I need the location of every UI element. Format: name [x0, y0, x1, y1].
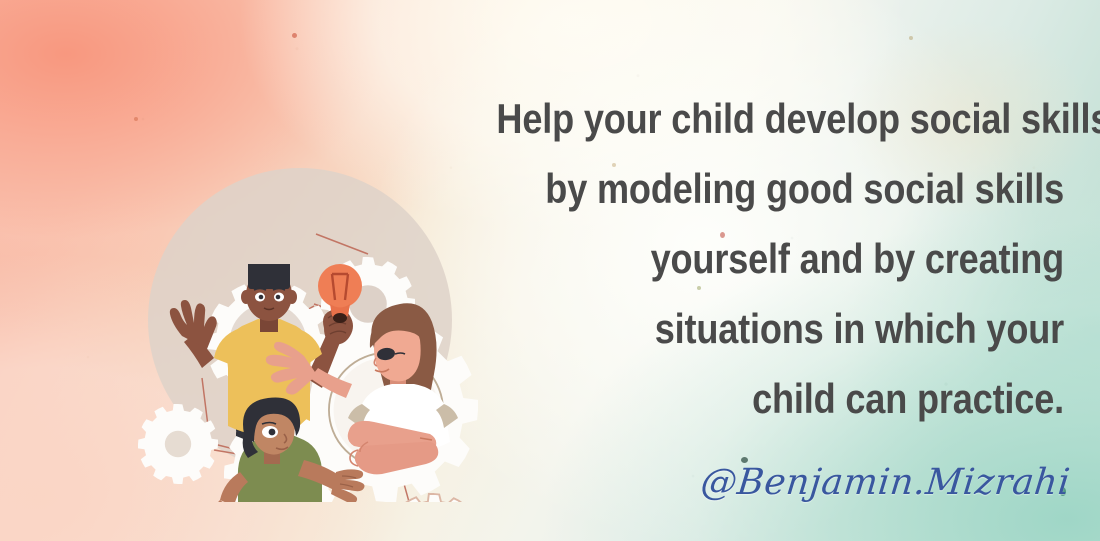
- quote-line-1: Help your child develop social skills: [496, 84, 1064, 154]
- poster-canvas: Help your child develop social skills by…: [0, 0, 1100, 541]
- quote-line-4: situations in which your: [496, 294, 1064, 364]
- quote-line-2: by modeling good social skills: [496, 154, 1064, 224]
- paper-speck: [292, 33, 297, 38]
- paper-speck: [134, 117, 138, 121]
- teamwork-gears-illustration: [118, 142, 478, 502]
- paper-speck: [909, 36, 913, 40]
- quote-text-block: Help your child develop social skills by…: [496, 84, 1064, 434]
- hair: [248, 264, 290, 289]
- quote-line-5: child can practice.: [496, 364, 1064, 434]
- quote-line-3: yourself and by creating: [496, 224, 1064, 294]
- gear-outline-bottom-right: [387, 494, 478, 502]
- author-signature: @Benjamin.Mizrahi: [699, 462, 1072, 503]
